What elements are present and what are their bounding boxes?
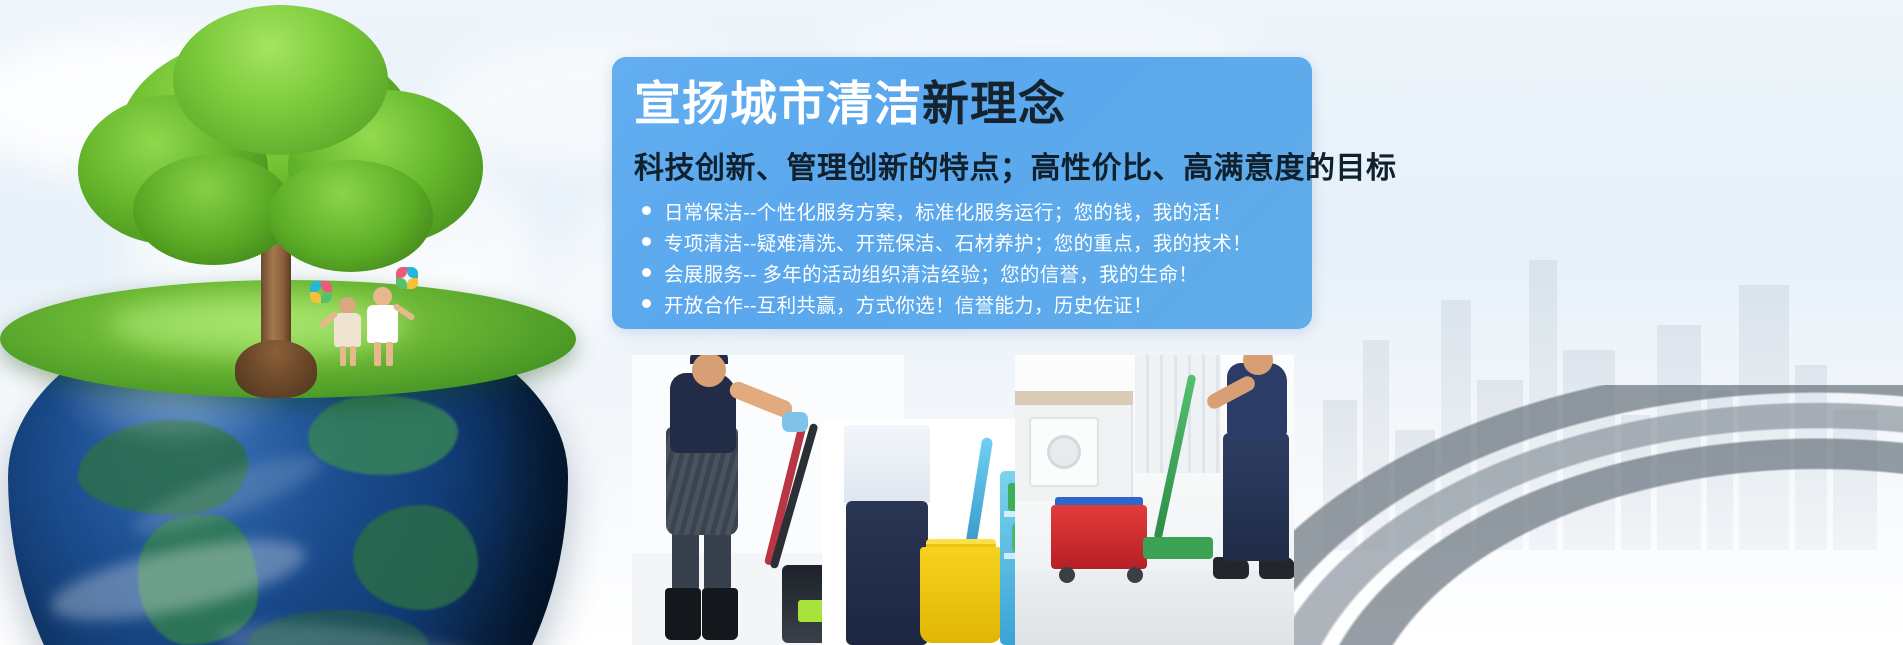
child-body (367, 305, 398, 343)
tree-illustration (78, 5, 478, 425)
worker-boot (702, 588, 738, 640)
child-leg (350, 346, 356, 366)
feature-list: 日常保洁--个性化服务方案，标准化服务运行；您的钱，我的活！ 专项清洁--疑难清… (642, 195, 1342, 319)
yellow-bucket (920, 547, 1002, 643)
page-title: 宣扬城市清洁新理念 (634, 78, 1066, 131)
child-leg (386, 342, 393, 366)
headline-rest: 新理念 (922, 77, 1066, 130)
worker-boot (665, 588, 701, 640)
worker-pants (846, 501, 928, 645)
globe-with-tree-illustration (0, 195, 580, 645)
list-item-label: 会展服务-- 多年的活动组织清洁经验；您的信誉，我的生命！ (664, 258, 1198, 287)
worker-pants (1223, 433, 1289, 561)
cart-wheel (1059, 567, 1075, 583)
child-leg (374, 342, 381, 366)
worker-glove (782, 412, 808, 432)
list-item-label: 开放合作--互利共赢，方式你选！信誉能力，历史佐证！ (664, 289, 1153, 318)
list-item-label: 专项清洁--疑难清洗、开荒保洁、石材养护；您的重点，我的技术！ (664, 227, 1252, 256)
list-item-label: 日常保洁--个性化服务方案，标准化服务运行；您的钱，我的活！ (664, 196, 1232, 225)
bullet-dot-icon (642, 268, 651, 277)
child-head (339, 297, 356, 314)
list-item: 日常保洁--个性化服务方案，标准化服务运行；您的钱，我的活！ (642, 195, 1342, 226)
list-item: 开放合作--互利共赢，方式你选！信誉能力，历史佐证！ (642, 288, 1342, 319)
cart-wheel (1127, 567, 1143, 583)
bullet-dot-icon (642, 299, 651, 308)
child-head (373, 287, 392, 306)
road-curve-illustration (1223, 385, 1903, 645)
child-body (334, 313, 361, 347)
foliage-shape (268, 160, 433, 272)
list-item: 专项清洁--疑难清洗、开荒保洁、石材养护；您的重点，我的技术！ (642, 226, 1342, 257)
bullet-dot-icon (642, 206, 651, 215)
kitchen-counter (1015, 391, 1133, 405)
continent-shape (353, 505, 478, 610)
white-coat (844, 425, 930, 503)
worker-leg (704, 530, 731, 592)
headline-highlight: 宣扬城市清洁 (634, 77, 922, 130)
worker-leg (672, 530, 699, 592)
photo-kitchen-mopping (1015, 355, 1294, 645)
child-leg (340, 346, 346, 366)
subtitle: 科技创新、管理创新的特点；高性价比、高满意度的目标 (634, 143, 1397, 187)
pinwheel-icon (396, 267, 418, 289)
list-item: 会展服务-- 多年的活动组织清洁经验；您的信誉，我的生命！ (642, 257, 1342, 288)
foliage-shape (173, 5, 388, 155)
pinwheel-icon (310, 281, 332, 303)
washing-machine-door (1047, 435, 1081, 469)
cleaning-service-banner: 宣扬城市清洁新理念 科技创新、管理创新的特点；高性价比、高满意度的目标 日常保洁… (0, 0, 1903, 645)
bullet-dot-icon (642, 237, 651, 246)
floor-area (1015, 571, 1294, 645)
mop-head (1143, 537, 1213, 559)
red-cleaning-cart (1051, 505, 1147, 569)
photo-strip (632, 355, 1294, 645)
machine-handle (764, 418, 808, 565)
